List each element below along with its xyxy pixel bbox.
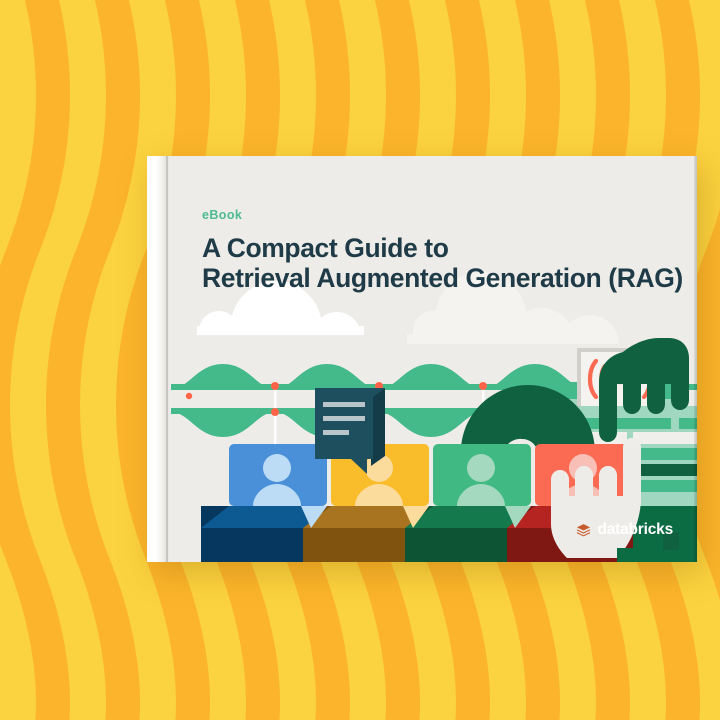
page-title: A Compact Guide to Retrieval Augmented G… <box>202 233 683 293</box>
ebook-cover[interactable]: eBook A Compact Guide to Retrieval Augme… <box>147 156 697 562</box>
databricks-logo: databricks <box>576 521 673 539</box>
cover-front: eBook A Compact Guide to Retrieval Augme… <box>171 156 697 562</box>
eyebrow-label: eBook <box>202 208 683 222</box>
spine-crease <box>166 156 168 562</box>
databricks-stack-icon <box>576 523 591 538</box>
screenshot-stage: eBook A Compact Guide to Retrieval Augme… <box>0 0 720 720</box>
databricks-wordmark: databricks <box>597 521 673 539</box>
page-edge <box>694 156 697 562</box>
